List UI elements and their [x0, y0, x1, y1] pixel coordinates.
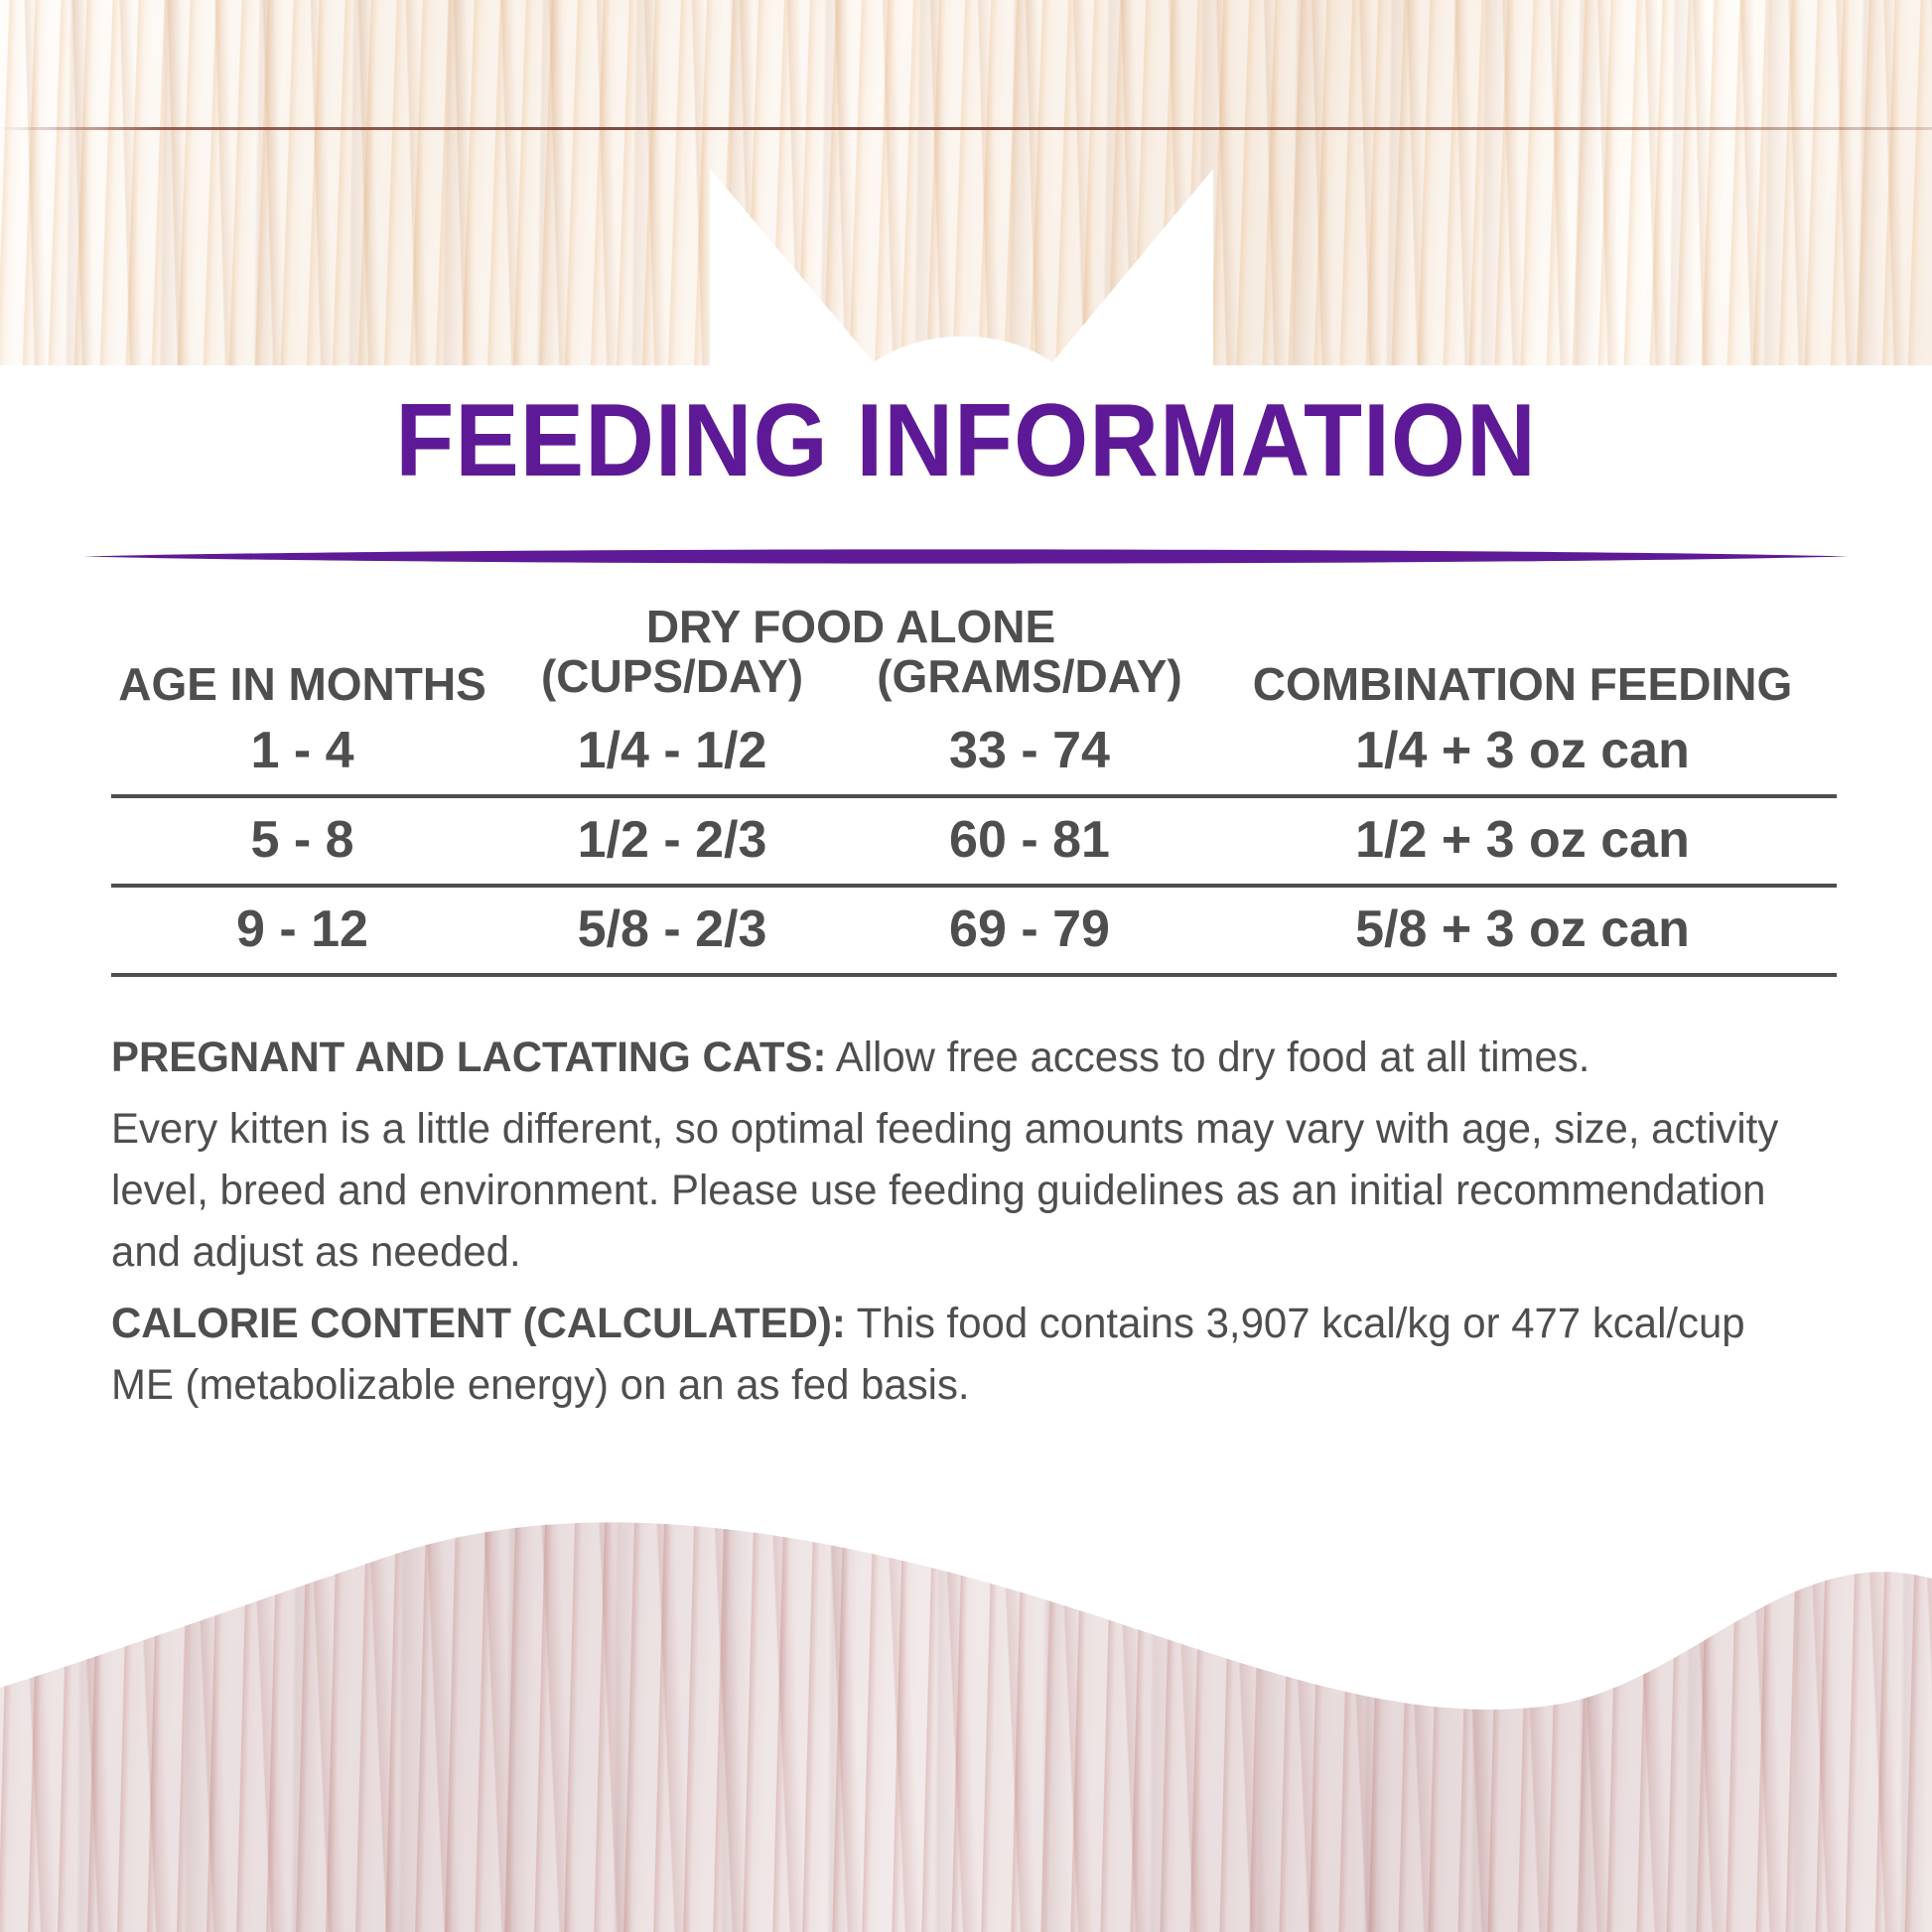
calorie-content-label: CALORIE CONTENT (CALCULATED): — [111, 1300, 846, 1347]
cell-combination: 5/8 + 3 oz can — [1208, 886, 1837, 975]
cell-age: 1 - 4 — [111, 709, 493, 796]
pregnant-lactating-note: PREGNANT AND LACTATING CATS: Allow free … — [111, 1027, 1786, 1088]
calorie-content-note: CALORIE CONTENT (CALCULATED): This food … — [111, 1293, 1786, 1416]
pregnant-lactating-text: Allow free access to dry food at all tim… — [826, 1034, 1589, 1081]
cell-cups: 5/8 - 2/3 — [493, 886, 851, 975]
cell-cups: 1/4 - 1/2 — [493, 709, 851, 796]
table-row: 5 - 8 1/2 - 2/3 60 - 81 1/2 + 3 oz can — [111, 796, 1837, 886]
feeding-information-panel: FEEDING INFORMATION AGE IN MONTHS DRY FO… — [0, 0, 1932, 1932]
purple-lens-divider — [83, 544, 1849, 566]
header-cups-per-day: (CUPS/DAY) — [493, 651, 851, 709]
header-dry-food-alone: DRY FOOD ALONE — [493, 602, 1208, 651]
feeding-variation-note: Every kitten is a little different, so o… — [111, 1098, 1786, 1283]
header-age-in-months: AGE IN MONTHS — [111, 602, 493, 709]
cell-age: 9 - 12 — [111, 886, 493, 975]
cell-grams: 69 - 79 — [851, 886, 1208, 975]
cell-combination: 1/2 + 3 oz can — [1208, 796, 1837, 886]
table-row: 1 - 4 1/4 - 1/2 33 - 74 1/4 + 3 oz can — [111, 709, 1837, 796]
header-grams-per-day: (GRAMS/DAY) — [851, 651, 1208, 709]
table-header-top-row: AGE IN MONTHS DRY FOOD ALONE COMBINATION… — [111, 602, 1837, 651]
cell-grams: 33 - 74 — [851, 709, 1208, 796]
cell-combination: 1/4 + 3 oz can — [1208, 709, 1837, 796]
pregnant-lactating-label: PREGNANT AND LACTATING CATS: — [111, 1034, 826, 1081]
feeding-table: AGE IN MONTHS DRY FOOD ALONE COMBINATION… — [111, 602, 1837, 977]
cell-grams: 60 - 81 — [851, 796, 1208, 886]
table-row: 9 - 12 5/8 - 2/3 69 - 79 5/8 + 3 oz can — [111, 886, 1837, 975]
feeding-notes: PREGNANT AND LACTATING CATS: Allow free … — [111, 1027, 1786, 1426]
cell-age: 5 - 8 — [111, 796, 493, 886]
page-title: FEEDING INFORMATION — [68, 389, 1864, 492]
header-combination-feeding: COMBINATION FEEDING — [1208, 602, 1837, 709]
cell-cups: 1/2 - 2/3 — [493, 796, 851, 886]
